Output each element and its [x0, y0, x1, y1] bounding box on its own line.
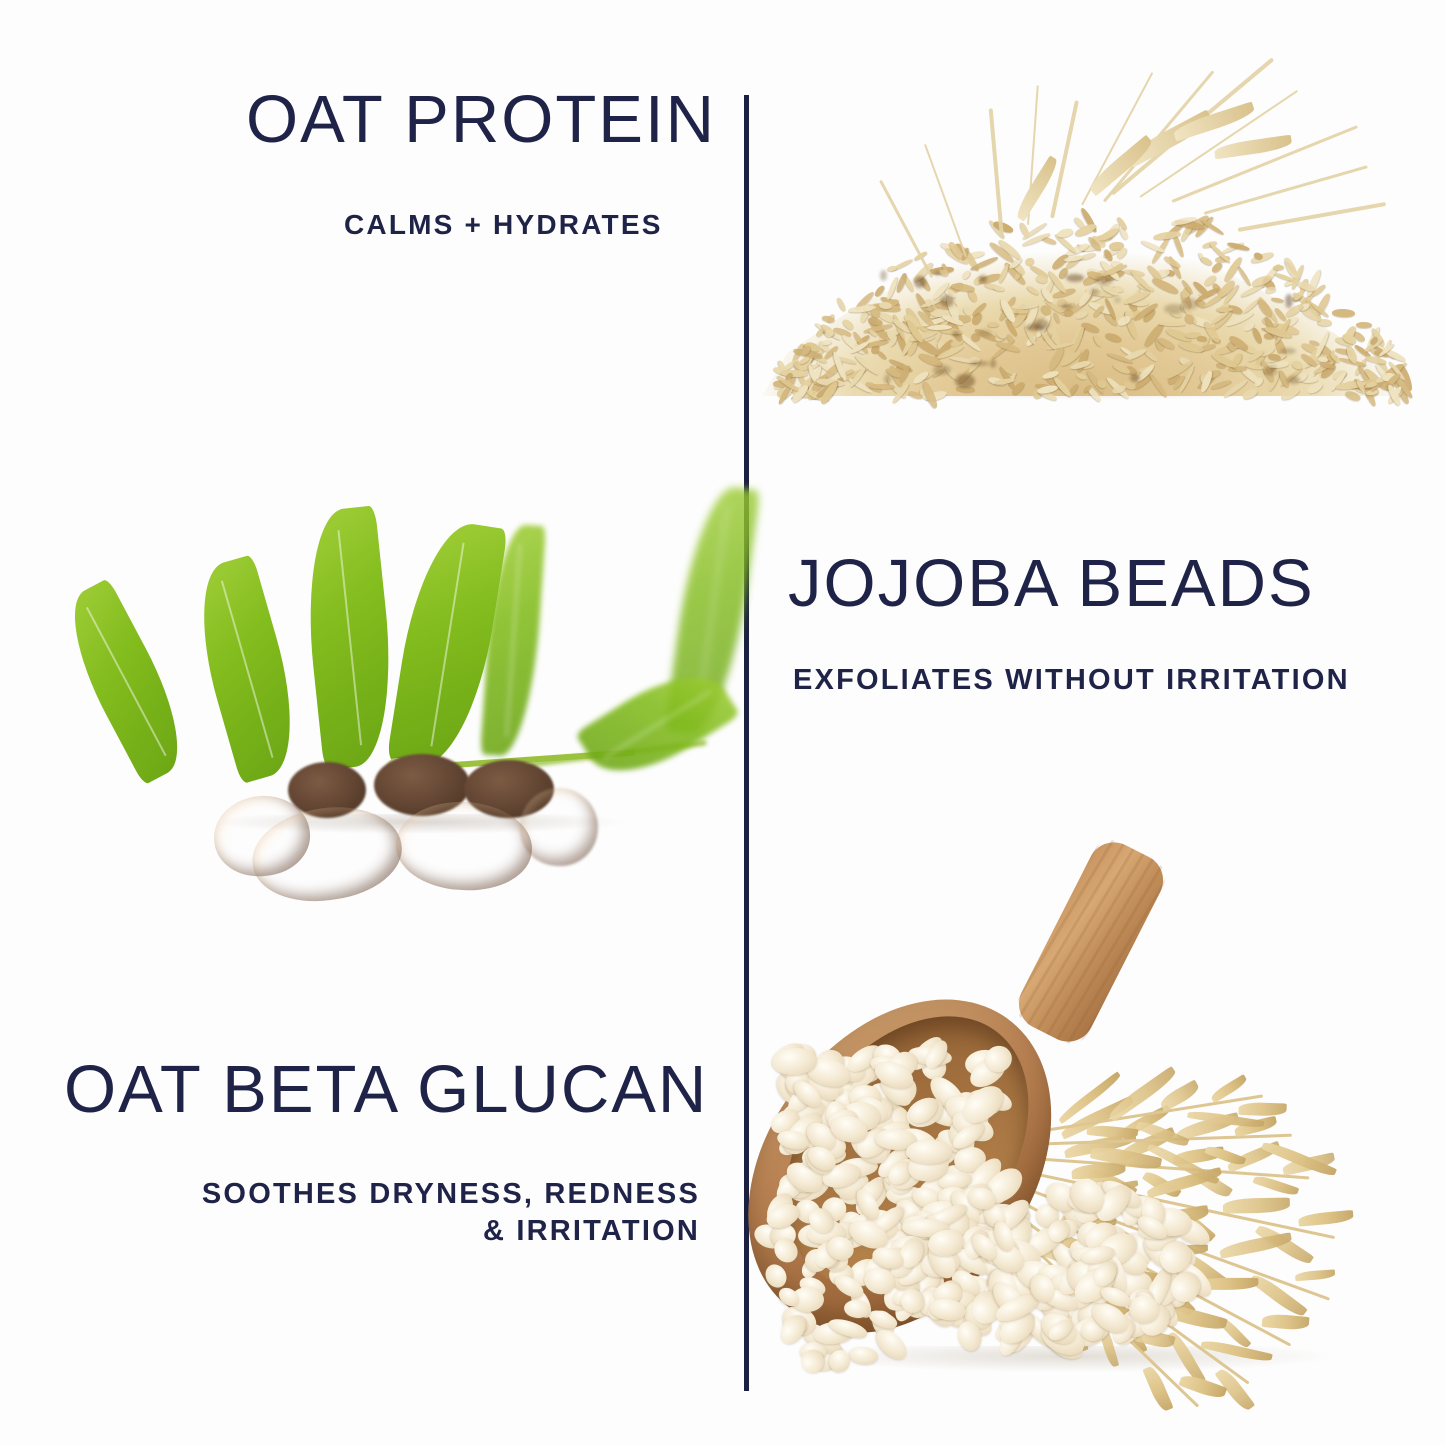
oat-awn: [924, 144, 967, 257]
oat-grain: [1356, 322, 1372, 329]
oat-grain: [887, 265, 898, 272]
oat-awn: [1171, 125, 1358, 203]
oat-pile-shadow-gap: [1066, 274, 1084, 282]
oat-pile-shadow-gap: [1164, 304, 1184, 314]
jojoba-beads-title: JOJOBA BEADS: [788, 550, 1315, 617]
oat-grain: [1332, 309, 1355, 317]
oat-awn: [1204, 165, 1368, 215]
jojoba-leaf-center: [297, 505, 402, 770]
oat-spikelet: [1295, 1269, 1336, 1281]
oat-grain-pile-photo: [752, 96, 1408, 396]
oat-pile-shadow-gap: [1061, 304, 1073, 309]
oat-pile-shadow-gap: [978, 329, 992, 337]
oat-spikelet: [1223, 1197, 1290, 1213]
oat-pile-shadow-gap: [880, 270, 887, 281]
oat-spikelet: [1298, 1210, 1354, 1227]
oat-beta-glucan-subtitle-line-1: SOOTHES DRYNESS, REDNESS: [202, 1178, 700, 1210]
oat-pile-shadow-gap: [884, 374, 891, 384]
oat-grain: [1264, 286, 1276, 294]
oat-pile-shadow-gap: [1285, 294, 1293, 308]
oat-spikelet: [1238, 1102, 1286, 1117]
oat-pile-shadow-gap: [1095, 276, 1113, 285]
oat-pile-shadow-gap: [1033, 319, 1049, 330]
jojoba-beads-subtitle: EXFOLIATES WITHOUT IRRITATION: [793, 662, 1350, 699]
oat-pile-shadow-gap: [1090, 288, 1099, 296]
oat-protein-subtitle: CALMS + HYDRATES: [344, 207, 663, 243]
oat-pile-shadow-gap: [1287, 376, 1300, 384]
oat-pile-shadow-gap: [914, 276, 926, 288]
infographic-canvas: OAT PROTEIN CALMS + HYDRATES JOJOBA BEAD…: [0, 0, 1445, 1445]
oat-pile-shadow-gap: [1182, 298, 1198, 310]
oat-grain: [1272, 265, 1283, 270]
jojoba-seeds-photo: [128, 466, 738, 856]
oat-pile-shadow-gap: [934, 270, 941, 276]
oat-pile-shadow-gap: [970, 361, 989, 366]
oat-spikelet: [1142, 1364, 1173, 1413]
oat-pile-shadow-gap: [1264, 366, 1277, 376]
oat-grain: [836, 297, 848, 313]
oat-pile-shadow-gap: [1130, 374, 1140, 382]
oat-grain: [1196, 336, 1206, 341]
oat-awn: [989, 108, 1004, 238]
oat-beta-glucan-subtitle: SOOTHES DRYNESS, REDNESS & IRRITATION: [140, 1176, 700, 1250]
oat-pile-shadow-gap: [979, 275, 987, 283]
oat-pile-shadow-gap: [952, 331, 960, 337]
scoop-handle: [1010, 833, 1172, 1050]
oat-pile-shadow-gap: [1280, 348, 1296, 354]
oat-beta-glucan-subtitle-line-2: & IRRITATION: [483, 1215, 700, 1247]
oat-spikelet: [1261, 1313, 1309, 1331]
oat-pile-shadow-gap: [1114, 297, 1121, 303]
oat-grain: [992, 220, 1014, 235]
oat-grain: [868, 384, 894, 389]
oat-pile-shadow-gap: [940, 295, 954, 307]
oat-beta-glucan-title: OAT BETA GLUCAN: [64, 1056, 708, 1123]
oat-pile-shadow-gap: [990, 359, 996, 368]
oat-protein-title: OAT PROTEIN: [246, 86, 716, 153]
jojoba-leaf-left-outer: [50, 578, 202, 786]
oat-awn: [1238, 202, 1386, 232]
oat-pile-shadow-gap: [955, 374, 975, 388]
jojoba-leaf-left-inner: [181, 554, 312, 784]
oat-pile-shadow-gap: [933, 365, 951, 375]
oat-flake: [906, 1140, 952, 1164]
oat-scoop-photo: [760, 826, 1432, 1378]
